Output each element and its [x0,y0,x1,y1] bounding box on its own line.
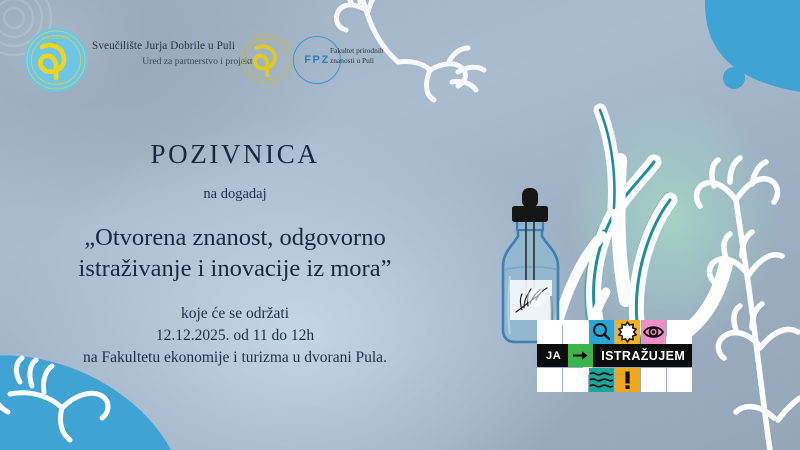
logo-empty-tile [563,320,588,344]
fpz-abbr: FPZ [304,54,330,66]
eye-tile [641,320,666,344]
blue-swoosh-top-right [705,0,800,92]
event-title-line2: istraživanje i inovacije iz mora” [0,253,470,284]
logo-label-ja: JA [546,350,561,362]
arrow-right-icon [571,348,590,363]
subheading: na dogadaj [0,186,470,203]
event-title: „Otvorena znanost, odgovorno istraživanj… [0,222,470,285]
gear-sun-icon [615,320,640,344]
logo-empty-tile [641,368,666,392]
faculty-spiral-logo-icon: SVEUČILIŠTE U PULI [240,32,294,86]
search-icon [589,320,614,344]
eye-icon [641,320,666,344]
svg-text:U PULI: U PULI [49,81,63,86]
exclamation-icon [615,368,640,392]
faculty-name-block: Fakultet prirodnih znanosti u Puli [330,46,412,66]
ja-istrazujem-logo[interactable]: JA ISTRAŽUJEM [537,320,692,392]
event-details-line1: koje će se održati [0,303,470,325]
event-details-line3: na Fakultetu ekonomije i turizma u dvora… [0,347,470,369]
logo-empty-tile [667,320,692,344]
event-title-line1: „Otvorena znanost, odgovorno [0,222,470,253]
page-title: POZIVNICA [0,139,470,170]
svg-text:U PULI: U PULI [261,78,273,82]
blue-swoosh-bottom-left [0,355,172,450]
faculty-name-line1: Fakultet prirodnih [330,46,412,56]
event-details: koje će se održati 12.12.2025. od 11 do … [0,303,470,369]
logo-empty-tile [667,368,692,392]
magnifier-tile [589,320,614,344]
logo-wordmark-bar: JA ISTRAŽUJEM [537,344,692,367]
event-details-line2: 12.12.2025. od 11 do 12h [0,325,470,347]
waves-tile [589,368,614,392]
faculty-name-line2: znanosti u Puli [330,56,412,66]
svg-text:SVEUČILIŠTE: SVEUČILIŠTE [42,35,71,40]
svg-text:SVEUČILIŠTE: SVEUČILIŠTE [255,37,279,42]
logo-empty-tile [563,368,588,392]
exclamation-tile [615,368,640,392]
invitation-poster: SVEUČILIŠTE U PULI Sveučilište Jurja Dob… [0,0,800,450]
logo-label-istrazujem: ISTRAŽUJEM [601,349,685,363]
logo-empty-tile [537,320,562,344]
university-logo-icon: SVEUČILIŠTE U PULI [22,26,90,94]
arrow-tile [568,344,593,367]
gear-sun-tile [615,320,640,344]
logo-empty-tile [537,368,562,392]
waves-icon [589,368,614,392]
